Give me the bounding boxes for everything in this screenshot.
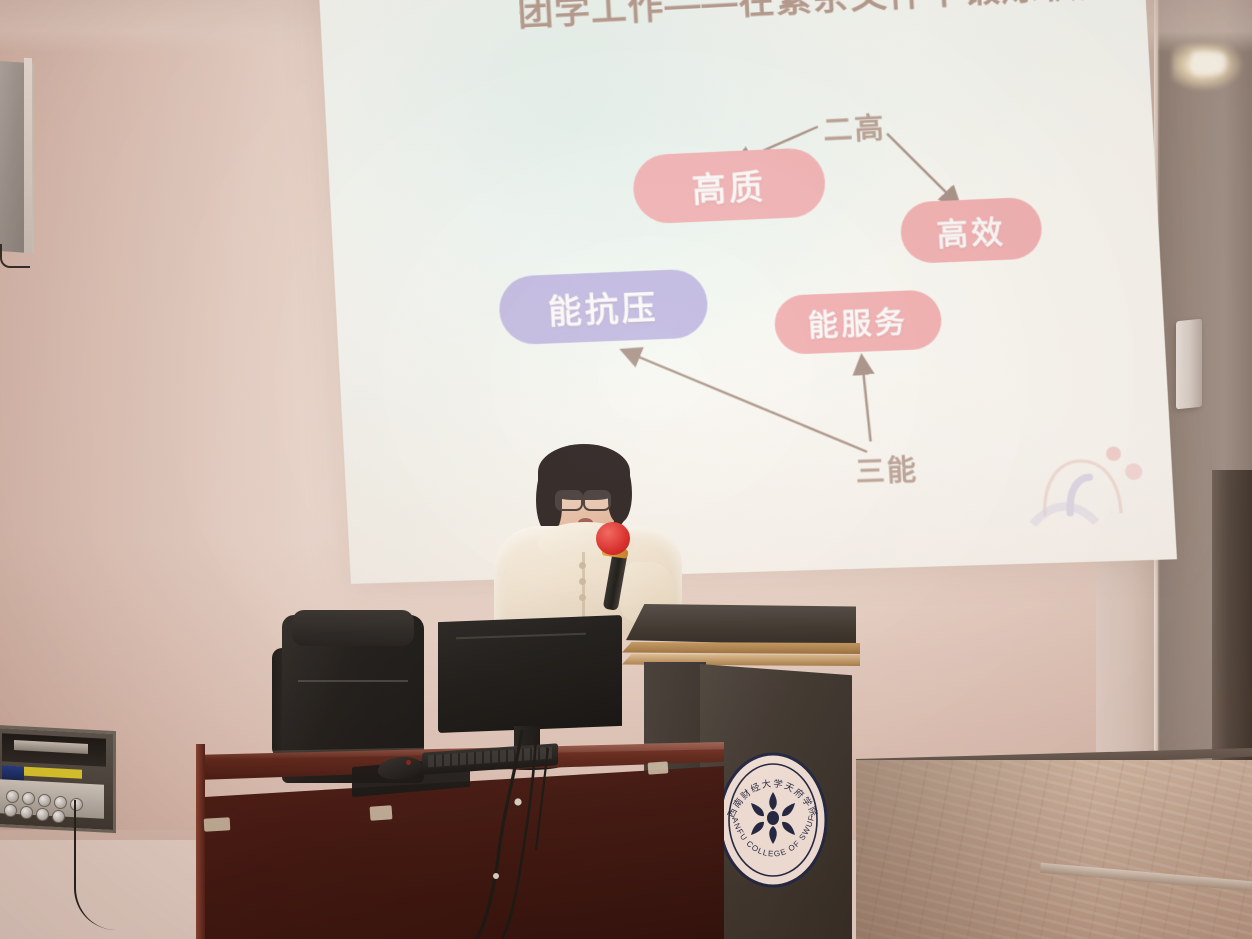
podium-top bbox=[626, 604, 856, 646]
jacket-snap-1 bbox=[579, 562, 586, 569]
speaker-cable bbox=[0, 244, 30, 268]
projection-screen: 团学工作——在繁杂文件中锻炼软实力 二高 三能 高质 高效 能抗压 能服务 bbox=[318, 0, 1177, 584]
mixer-knob-6 bbox=[4, 804, 17, 817]
ceiling-light-core bbox=[1192, 52, 1226, 74]
desk-cables bbox=[440, 730, 610, 939]
av-rack-lcd-display bbox=[2, 765, 24, 780]
mixer-knob-8 bbox=[36, 808, 49, 821]
desk-tape-patch-1 bbox=[204, 817, 231, 831]
mixer-knob-2 bbox=[22, 792, 35, 805]
jacket-snap-3 bbox=[579, 594, 586, 601]
office-chair-seam bbox=[298, 680, 408, 682]
desk-left-edge bbox=[196, 744, 205, 939]
slide-group-label-sanneng: 三能 bbox=[854, 448, 919, 491]
office-chair-headrest bbox=[292, 610, 414, 646]
mixer-knob-3 bbox=[38, 794, 51, 807]
microphone-windscreen bbox=[596, 522, 630, 555]
slide-group-label-ergao: 二高 bbox=[822, 106, 887, 150]
desk-tape-patch-2 bbox=[370, 805, 393, 821]
slide-node-nengfuwu: 能服务 bbox=[773, 289, 943, 355]
lecture-hall-photo: 团学工作——在繁杂文件中锻炼软实力 二高 三能 高质 高效 能抗压 能服务 bbox=[0, 0, 1252, 939]
wall-speaker-right-icon bbox=[1176, 319, 1202, 410]
mixer-knob-7 bbox=[20, 806, 33, 819]
wall-speaker-left-frame bbox=[24, 58, 32, 255]
mixer-knob-9 bbox=[52, 810, 65, 823]
eyeglasses-bridge bbox=[579, 497, 585, 499]
slide-node-nengkangya: 能抗压 bbox=[498, 268, 710, 345]
monitor-vent bbox=[456, 633, 586, 666]
eyeglasses-right-lens bbox=[583, 490, 611, 511]
jacket-snap-2 bbox=[579, 578, 586, 585]
slide-node-gaozhi: 高质 bbox=[632, 147, 827, 225]
floor-shadow bbox=[856, 760, 1096, 939]
slide-decoration-flower-doodle bbox=[1021, 423, 1164, 527]
desk-tape-patch-3 bbox=[648, 761, 669, 774]
podium-wood-trim-upper bbox=[622, 642, 860, 654]
mixer-knob-4 bbox=[54, 796, 67, 809]
slide-node-gaoxiao: 高效 bbox=[899, 197, 1043, 265]
computer-monitor bbox=[438, 615, 622, 733]
mixer-knob-1 bbox=[6, 790, 19, 803]
eyeglasses-icon bbox=[555, 490, 583, 511]
av-rack-cable bbox=[74, 800, 116, 930]
tianfu-college-emblem: 西南财经大学天府学院 TIANFU COLLEGE OF SWUFE bbox=[714, 748, 832, 898]
computer-mouse-led bbox=[406, 760, 411, 765]
